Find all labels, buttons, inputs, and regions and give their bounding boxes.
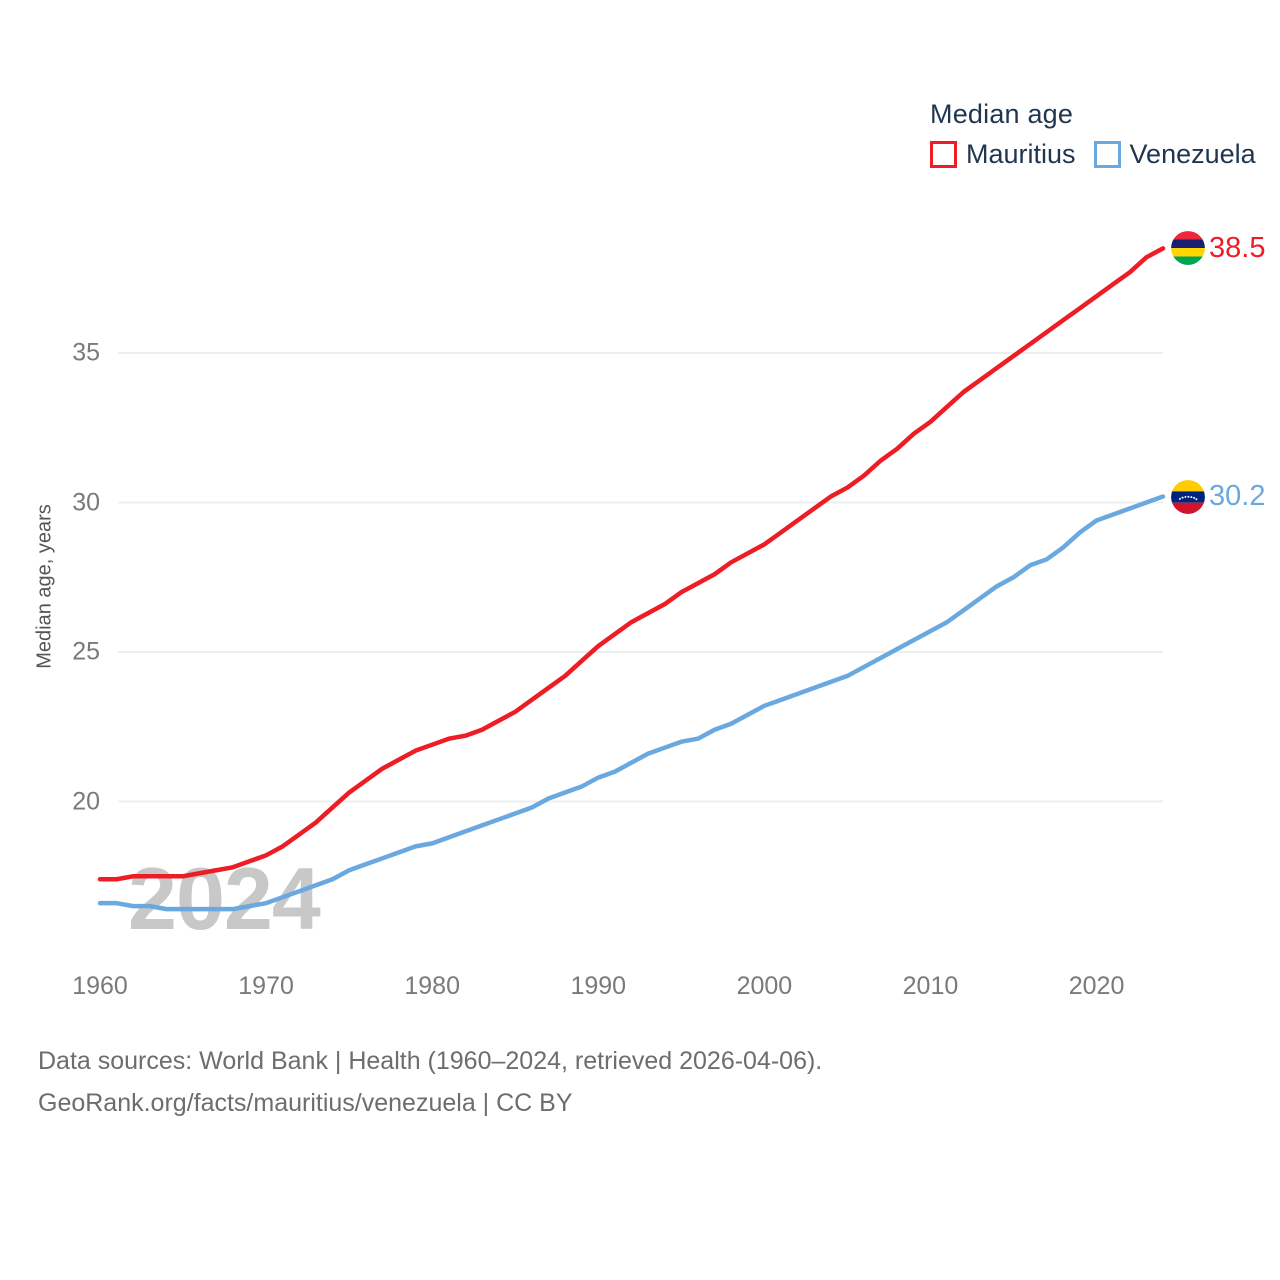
gridlines [118,353,1163,802]
x-tick-1980: 1980 [372,972,492,1001]
x-tick-1960: 1960 [40,972,160,1001]
x-tick-2020: 2020 [1037,972,1157,1001]
series-lines [100,248,1163,909]
chart-page: Median age Mauritius Venezuela 2024 Medi… [0,0,1280,1280]
footer-sources: Data sources: World Bank | Health (1960–… [38,1040,822,1124]
y-tick-25: 25 [40,638,100,667]
endpoint-venezuela: 30.2 [1171,480,1265,514]
series-line-mauritius [100,248,1163,879]
x-tick-1990: 1990 [538,972,658,1001]
x-tick-2000: 2000 [704,972,824,1001]
footer-line-2: GeoRank.org/facts/mauritius/venezuela | … [38,1082,822,1124]
y-tick-20: 20 [40,787,100,816]
mauritius-flag-icon [1171,231,1205,265]
x-tick-2010: 2010 [870,972,990,1001]
endpoint-value-venezuela: 30.2 [1209,482,1265,511]
footer-line-1: Data sources: World Bank | Health (1960–… [38,1040,822,1082]
series-line-venezuela [100,497,1163,910]
endpoint-mauritius: 38.5 [1171,231,1265,265]
y-tick-30: 30 [40,488,100,517]
x-tick-1970: 1970 [206,972,326,1001]
endpoint-value-mauritius: 38.5 [1209,234,1265,263]
venezuela-flag-icon [1171,480,1205,514]
y-tick-35: 35 [40,339,100,368]
